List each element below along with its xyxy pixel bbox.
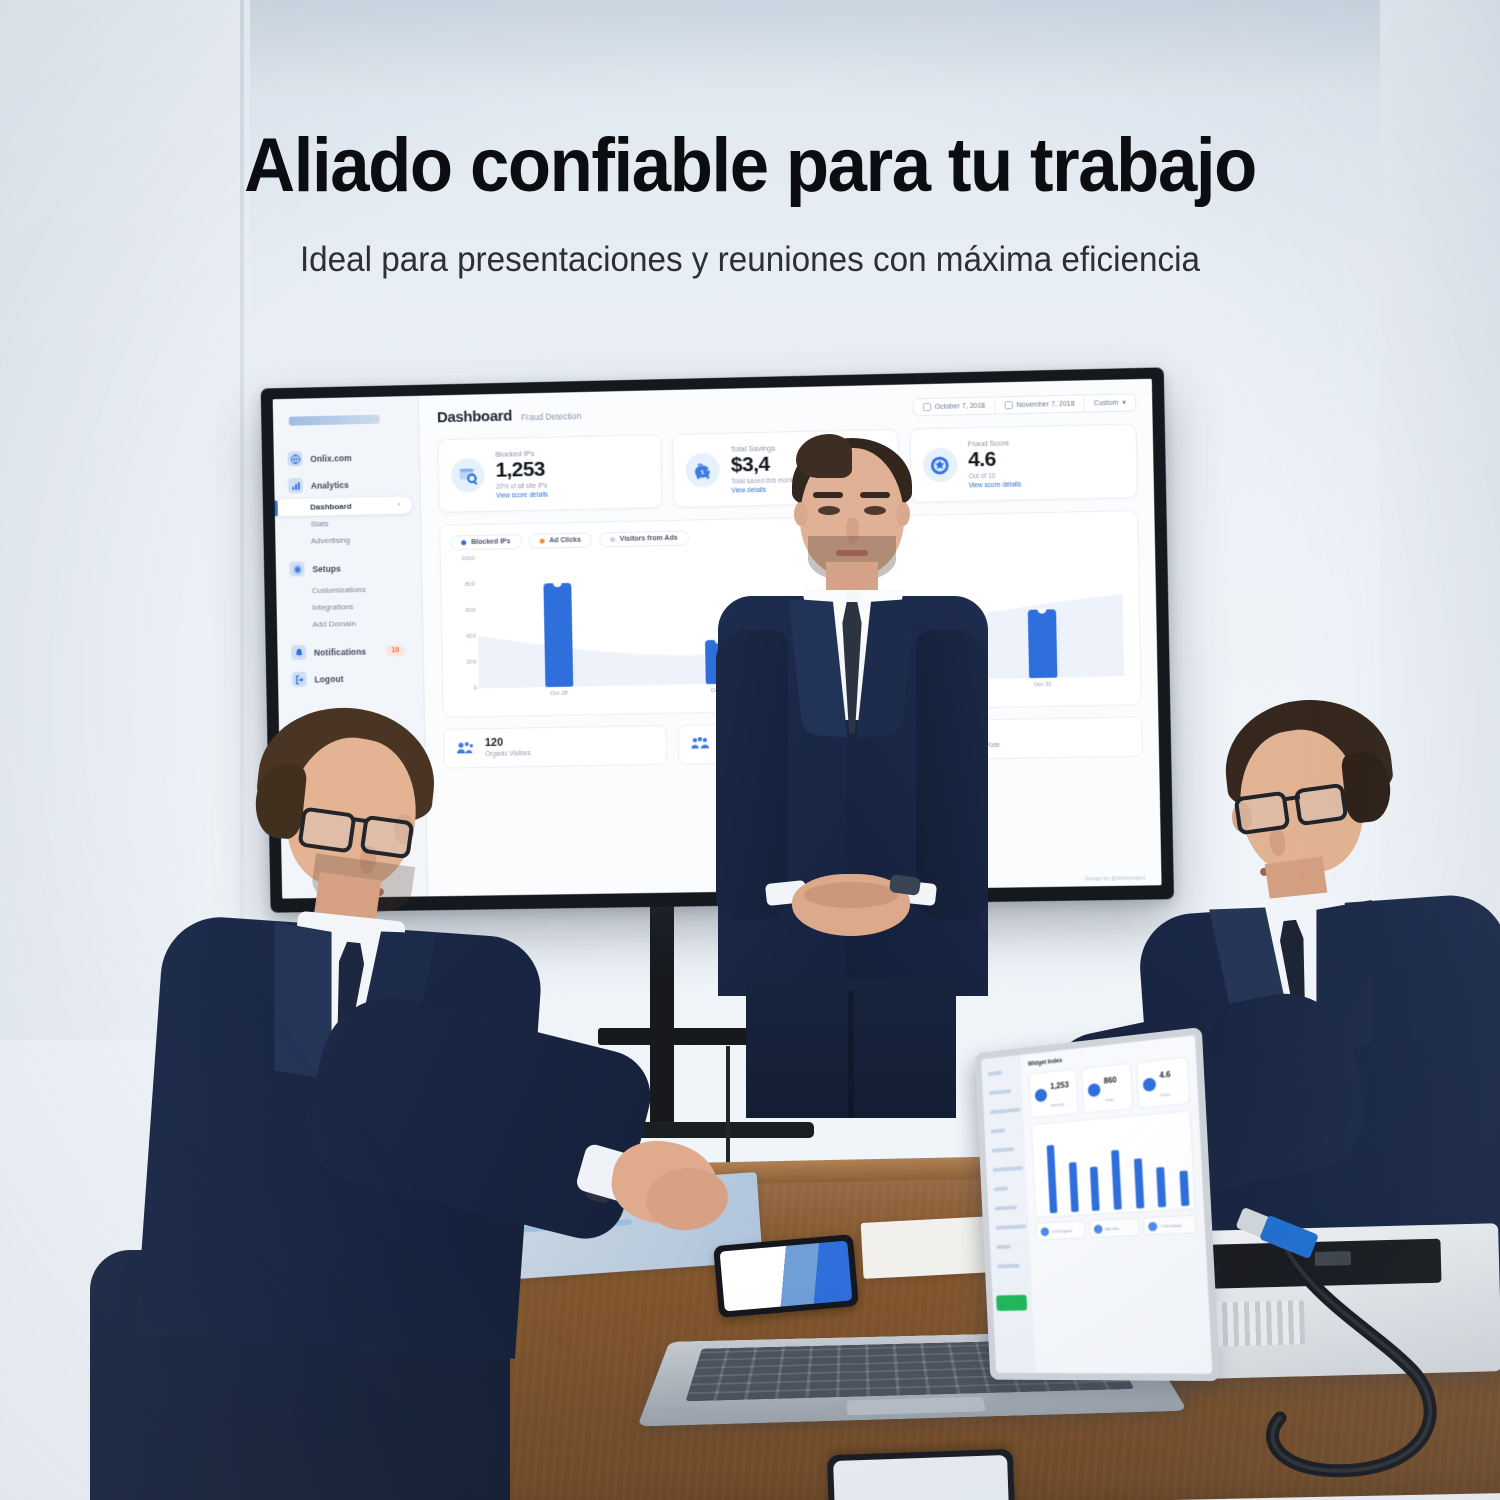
analytics-icon [288,478,303,493]
range-preset-select[interactable]: Custom ▾ [1084,394,1136,411]
chevron-down-icon: ▾ [1122,399,1126,407]
bar-column[interactable] [534,583,582,688]
calendar-icon [1004,401,1012,409]
laptop-kpi-value: 1,253 [1050,1080,1069,1091]
onlix-logo [289,415,380,426]
notifications-badge: 10 [386,645,405,656]
laptop-sidebar-row [991,1128,1005,1133]
y-axis-tick: 600 [465,608,475,614]
presenter-brow-right [860,492,890,498]
sidebar-item-setups[interactable]: Setups [276,553,422,583]
laptop-chart-card [1031,1110,1196,1218]
laptop-kpi-card[interactable]: 1,253 Blocked [1028,1068,1078,1118]
legend-dot [461,540,466,545]
sidebar-label: Analytics [311,479,349,490]
kpi-card-blocked-ips[interactable]: Blocked IPs 1,253 20% of all site IPs Vi… [437,434,662,513]
kpi-sub: 20% of all site IPs [496,483,548,491]
date-range-picker[interactable]: October 7, 2018 November 7, 2018 Custom … [912,393,1136,416]
presenter-hand-shadow [804,882,898,908]
laptop-mini-stats: 120 Organic 860 Ads 7.3% Fraud [1036,1215,1197,1241]
laptop-kpi-label: Score [1160,1091,1171,1097]
bar-column[interactable] [1018,610,1066,679]
presenter-mouth [836,550,868,556]
kpi-link[interactable]: View score details [496,492,548,500]
presenter-hair-front [796,434,852,478]
chart-bar[interactable] [543,583,573,687]
date-to-value: November 7, 2018 [1016,400,1074,408]
legend-label: Blocked IPs [471,538,511,546]
bell-icon [291,645,306,660]
laptop-kpi-icon [1088,1083,1101,1097]
x-axis-label: Oct 31 [1020,682,1067,689]
smartphone-foreground[interactable] [827,1449,1015,1500]
laptop-sidebar-row [990,1108,1020,1115]
legend-item-blocked-ips[interactable]: Blocked IPs [450,534,521,550]
laptop-trackpad[interactable] [847,1397,986,1416]
presenter-ear-right [896,502,910,526]
chevron-right-icon: › [398,502,400,509]
sidebar-item-onlix[interactable]: Onlix.com [274,443,420,473]
standing-presenter [700,430,1000,1110]
laptop-mini-label: 7.3% Fraud [1160,1222,1181,1228]
sidebar-label: Onlix.com [310,453,352,464]
laptop-mini-icon [1093,1224,1102,1233]
laptop-kpi-value: 860 [1104,1075,1117,1085]
laptop-kpi-value: 4.6 [1159,1070,1171,1080]
hdmi-port[interactable] [1315,1251,1351,1266]
page-subtitle: Ideal para presentaciones y reuniones co… [38,240,1463,280]
date-from-value: October 7, 2018 [935,402,986,410]
laptop-mini-card[interactable]: 120 Organic [1036,1220,1086,1240]
phone-foreground-screen[interactable] [833,1455,1009,1500]
kpi-value: 1,253 [495,459,547,482]
laptop-sidebar-row [993,1166,1024,1172]
laptop-kpi-card[interactable]: 4.6 Score [1136,1057,1190,1109]
man-right-glasses-right [1294,783,1349,827]
laptop-chart-bar [1134,1159,1144,1209]
logout-icon [292,672,307,687]
blocked-ip-icon [451,458,485,493]
laptop-sidebar-row [995,1224,1026,1229]
sidebar-item-logout[interactable]: Logout [278,664,424,694]
presenter-brow-left [813,492,843,498]
laptop-mini-label: 860 Ads [1105,1225,1119,1231]
sidebar-item-advertising[interactable]: Advertising [275,530,420,550]
laptop-chart-bar [1156,1167,1166,1207]
sidebar-item-analytics[interactable]: Analytics [274,469,420,499]
sidebar-item-notifications[interactable]: Notifications 10 [277,637,423,667]
laptop-sidebar-row [992,1147,1014,1153]
date-to-field[interactable]: November 7, 2018 [994,395,1084,413]
legend-dot [539,539,544,544]
presenter-eye-right [864,506,886,515]
legend-label: Visitors from Ads [620,535,678,543]
laptop-sidebar-row [996,1245,1010,1249]
laptop-bar-group [1037,1117,1190,1214]
y-axis-tick: 400 [466,634,476,640]
legend-dot [610,537,615,542]
laptop-chart-bar [1090,1167,1100,1211]
presenter-arm-left [716,630,788,920]
laptop-kpi-row: 1,253 Blocked 860 Visits 4.6 Score [1028,1057,1190,1119]
laptop-kpi-icon [1143,1077,1157,1091]
sidebar-sub-label: Dashboard [310,502,351,512]
headline-block: Aliado confiable para tu trabajo Ideal p… [0,0,1500,330]
laptop-dashboard-main: Widget Index 1,253 Blocked 860 Visits [1020,1035,1212,1374]
laptop-chart-bar [1069,1162,1079,1212]
laptop-kpi-label: Visits [1105,1097,1114,1103]
laptop: Widget Index 1,253 Blocked 860 Visits [672,1040,1212,1460]
laptop-sidebar-row [997,1264,1020,1269]
legend-label: Ad Clicks [549,537,581,545]
date-from-field[interactable]: October 7, 2018 [913,398,994,416]
laptop-green-badge [996,1295,1027,1311]
laptop-chart-bar [1047,1145,1058,1213]
y-axis: 10008006004002000 [451,559,477,689]
page-title: Aliado confiable para tu trabajo [53,128,1448,204]
laptop-chart-bar [1111,1150,1122,1210]
man-right-glasses-left [1234,791,1291,836]
laptop-mini-icon [1041,1227,1050,1236]
laptop-kpi-label: Blocked [1051,1101,1064,1107]
legend-item-visitors-from-ads[interactable]: Visitors from Ads [599,531,689,548]
dashboard-subtitle: Fraud Detection [521,411,581,422]
laptop-sidebar-row [994,1205,1016,1210]
sidebar-label: Logout [314,673,343,683]
presenter-arm-right [916,630,988,920]
dashboard-header: Dashboard Fraud Detection October 7, 201… [437,393,1136,427]
laptop-mini-card[interactable]: 860 Ads [1088,1218,1140,1239]
y-axis-tick: 1000 [461,556,474,562]
dashboard-title: Dashboard [437,408,512,427]
laptop-lid: Widget Index 1,253 Blocked 860 Visits [975,1027,1220,1381]
y-axis-tick: 800 [465,582,475,588]
presenter-eye-left [818,506,840,515]
range-preset-value: Custom [1094,399,1119,407]
laptop-sidebar-row [989,1089,1011,1095]
laptop-sidebar-row [988,1071,1002,1076]
presenter-ear-left [794,502,808,526]
sidebar-label: Notifications [314,646,366,657]
y-axis-tick: 200 [466,660,476,666]
laptop-kpi-card[interactable]: 860 Visits [1081,1063,1133,1114]
seated-man-left [60,690,700,1500]
sidebar-item-add-domain[interactable]: Add Domain [277,614,422,634]
laptop-screen[interactable]: Widget Index 1,253 Blocked 860 Visits [981,1035,1212,1374]
man-left-glasses-right [360,815,415,860]
laptop-mini-label: 120 Organic [1052,1228,1072,1234]
calendar-icon [923,403,931,411]
man-left-glasses-left [297,806,356,853]
laptop-kpi-icon [1035,1088,1048,1102]
setups-icon [290,561,305,576]
chart-bar[interactable] [1027,610,1057,678]
legend-item-ad-clicks[interactable]: Ad Clicks [528,533,592,549]
laptop-mini-icon [1148,1221,1157,1231]
laptop-sidebar-row [994,1186,1008,1191]
laptop-mini-card[interactable]: 7.3% Fraud [1143,1215,1197,1236]
sidebar-label: Setups [312,563,341,574]
globe-icon [287,451,302,466]
laptop-chart-bar [1179,1171,1189,1206]
